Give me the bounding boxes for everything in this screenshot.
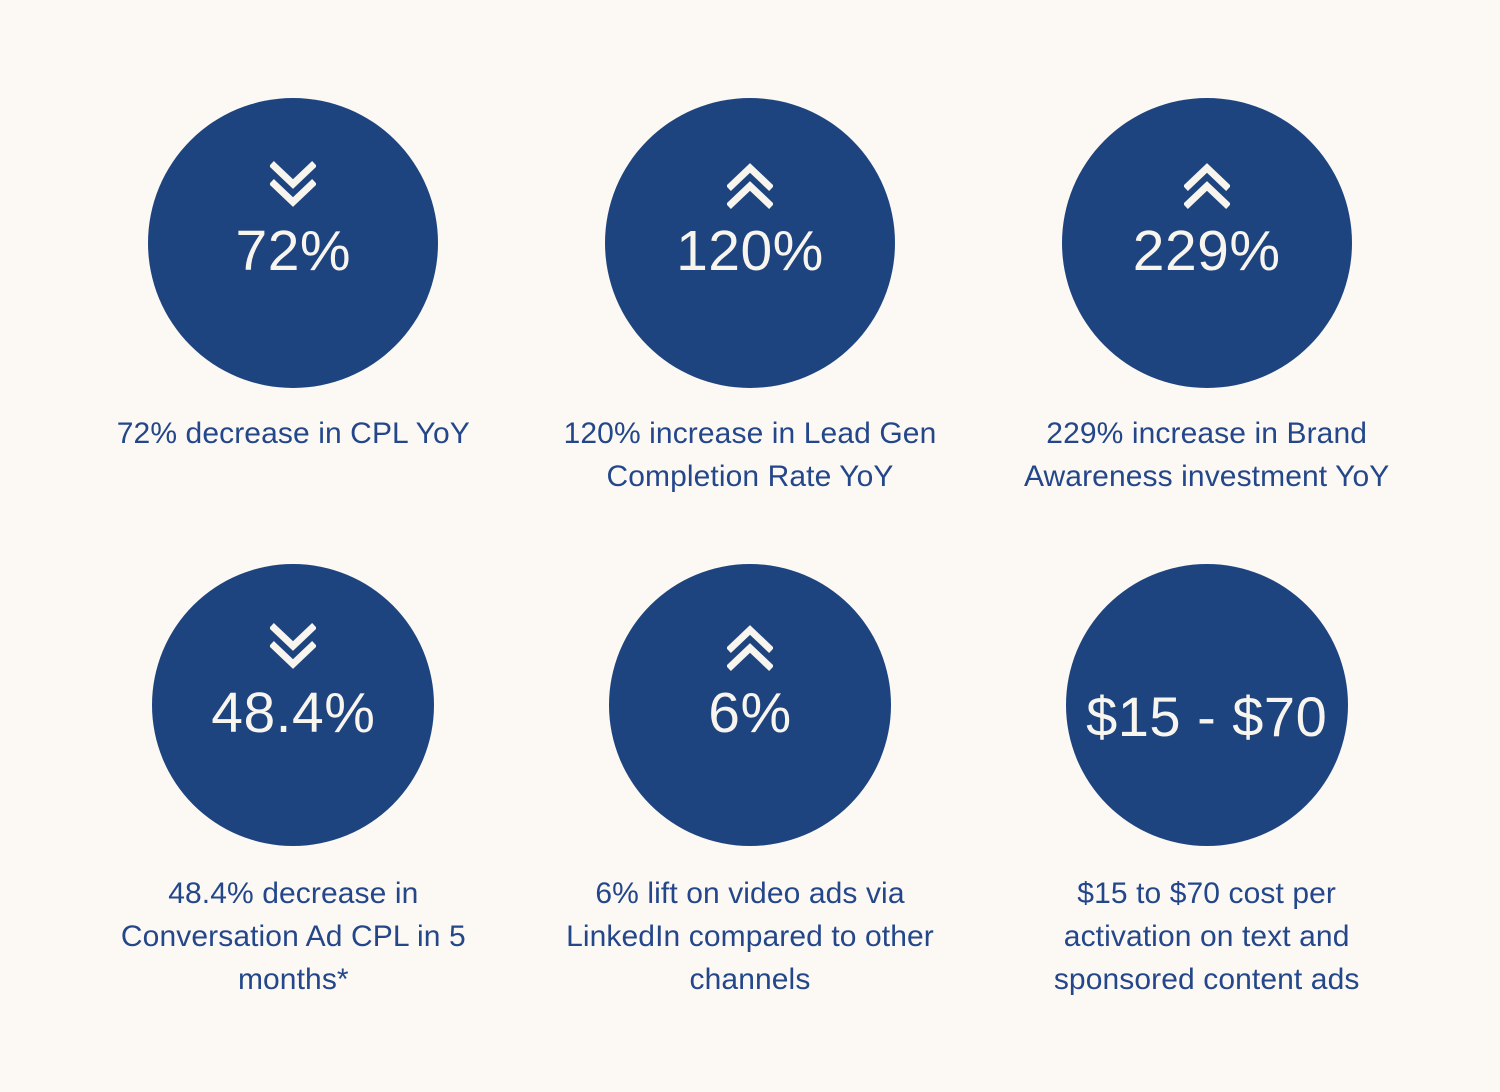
stat-caption-4: 48.4% decrease in Conversation Ad CPL in… [98, 872, 488, 1002]
double-chevron-down-icon [270, 160, 316, 210]
stat-circle-5: 6% [609, 564, 891, 846]
stat-circle-1: 72% [148, 98, 438, 388]
stat-caption-6: $15 to $70 cost per activation on text a… [1012, 872, 1402, 1002]
stat-value-3: 229% [1133, 222, 1281, 282]
stat-value-6: $15 - $70 [1086, 688, 1327, 747]
stat-circle-2: 120% [605, 98, 895, 388]
stat-value-1: 72% [236, 222, 352, 282]
double-chevron-down-icon [270, 622, 316, 672]
stat-value-5: 6% [708, 684, 791, 744]
double-chevron-up-icon [727, 622, 773, 672]
stat-circle-3: 229% [1062, 98, 1352, 388]
stat-cell-2: 120% 120% increase in Lead Gen Completio… [522, 98, 979, 536]
stat-cell-6: $15 - $70 $15 to $70 cost per activation… [978, 564, 1435, 1002]
stat-caption-5: 6% lift on video ads via LinkedIn compar… [555, 872, 945, 1002]
double-chevron-up-icon [727, 160, 773, 210]
stat-cell-1: 72% 72% decrease in CPL YoY [65, 98, 522, 536]
double-chevron-up-icon [1184, 160, 1230, 210]
stat-cell-4: 48.4% 48.4% decrease in Conversation Ad … [65, 564, 522, 1002]
stat-circle-6: $15 - $70 [1066, 564, 1348, 846]
stat-caption-3: 229% increase in Brand Awareness investm… [1017, 412, 1397, 498]
stat-caption-1: 72% decrease in CPL YoY [117, 412, 470, 455]
stat-cell-3: 229% 229% increase in Brand Awareness in… [978, 98, 1435, 536]
stat-value-2: 120% [676, 222, 824, 282]
stat-circle-4: 48.4% [152, 564, 434, 846]
stat-value-4: 48.4% [211, 684, 375, 744]
stat-cell-5: 6% 6% lift on video ads via LinkedIn com… [522, 564, 979, 1002]
stat-caption-2: 120% increase in Lead Gen Completion Rat… [560, 412, 940, 498]
stats-infographic: 72% 72% decrease in CPL YoY 120% 120% in… [0, 0, 1500, 1092]
stat-grid: 72% 72% decrease in CPL YoY 120% 120% in… [65, 0, 1435, 1001]
